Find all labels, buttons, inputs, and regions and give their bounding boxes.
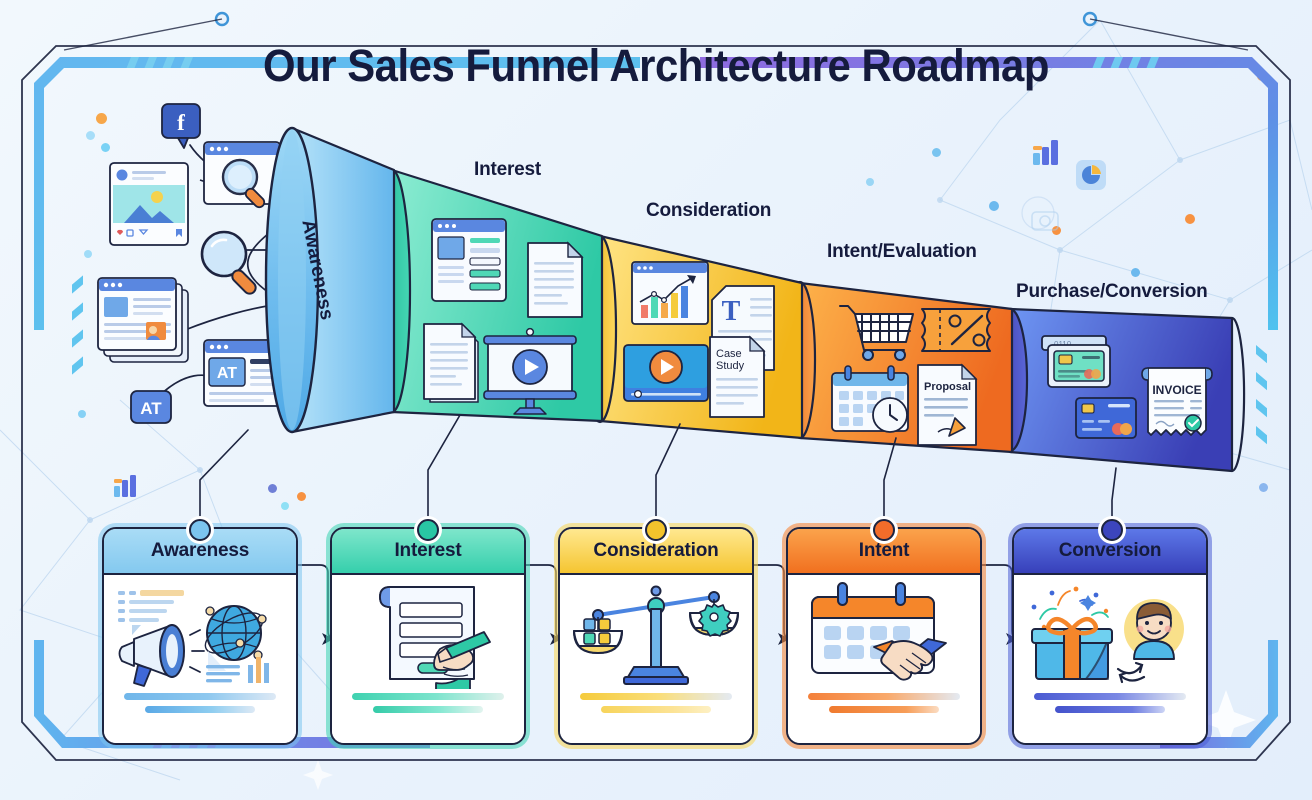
stage-card-interest[interactable]: Interest	[330, 527, 526, 745]
connector-node-interest	[417, 519, 439, 541]
card-progress-bars	[560, 693, 752, 719]
card-progress-bars	[788, 693, 980, 719]
progress-bar-secondary	[1055, 706, 1164, 713]
progress-bar-secondary	[601, 706, 710, 713]
connector-node-conversion	[1101, 519, 1123, 541]
stage-card-conversion[interactable]: Conversion	[1012, 527, 1208, 745]
card-progress-bars	[104, 693, 296, 719]
progress-bar-secondary	[373, 706, 482, 713]
card-body	[104, 575, 296, 745]
card-body	[788, 575, 980, 745]
stage-card-consideration[interactable]: Consideration	[558, 527, 754, 745]
infographic-canvas: Our Sales Funnel Architecture Roadmap	[0, 0, 1312, 800]
connector-node-intent	[873, 519, 895, 541]
progress-bar-secondary	[145, 706, 254, 713]
card-progress-bars	[1014, 693, 1206, 719]
card-body	[332, 575, 524, 745]
progress-bar-primary	[124, 693, 276, 700]
card-progress-bars	[332, 693, 524, 719]
megaphone-globe-icon	[112, 581, 288, 689]
signing-document-icon	[340, 581, 516, 689]
stage-card-intent[interactable]: Intent	[786, 527, 982, 745]
gift-customer-icon	[1022, 581, 1198, 689]
progress-bar-primary	[808, 693, 960, 700]
progress-bar-primary	[352, 693, 504, 700]
calendar-handshake-icon	[796, 581, 972, 689]
card-body	[1014, 575, 1206, 745]
connector-node-awareness	[189, 519, 211, 541]
card-body	[560, 575, 752, 745]
stage-card-awareness[interactable]: Awareness	[102, 527, 298, 745]
progress-bar-primary	[1034, 693, 1186, 700]
progress-bar-primary	[580, 693, 732, 700]
progress-bar-secondary	[829, 706, 938, 713]
balance-scale-icon	[568, 581, 744, 689]
connector-node-consideration	[645, 519, 667, 541]
